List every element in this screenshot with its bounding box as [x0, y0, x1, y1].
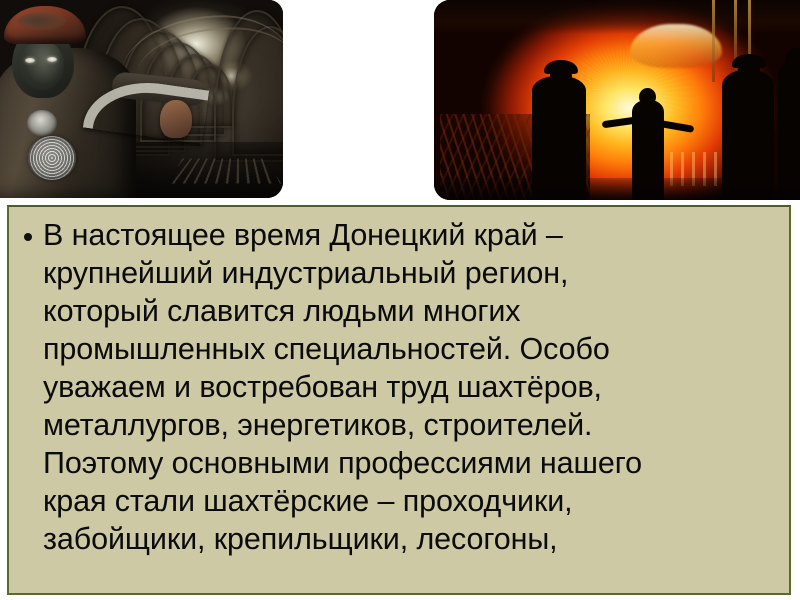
- crane-cable-1: [712, 0, 715, 82]
- bullet-item: В настоящее время Донецкий край – крупне…: [17, 216, 781, 558]
- worker-1-hardhat: [544, 60, 578, 74]
- bullet-line: Поэтому основными профессиями нашего: [43, 444, 781, 482]
- worker-3-hardhat: [732, 54, 766, 68]
- bullet-line: уважаем и востребован труд шахтёров,: [43, 368, 781, 406]
- miner-eye-left: [25, 58, 35, 63]
- miner-helmet-smudge: [18, 12, 66, 30]
- content-text-box: В настоящее время Донецкий край – крупне…: [7, 205, 791, 595]
- miner-eye-right: [47, 57, 57, 62]
- presentation-slide: В настоящее время Донецкий край – крупне…: [0, 0, 800, 600]
- bullet-line: крупнейший индустриальный регион,: [43, 254, 781, 292]
- bullet-line: края стали шахтёрские – проходчики,: [43, 482, 781, 520]
- pouring-ladle: [630, 24, 722, 68]
- worker-2-head: [639, 88, 656, 106]
- mine-rail-track: [167, 159, 282, 184]
- bullet-line: В настоящее время Донецкий край –: [43, 216, 781, 254]
- bullet-list: В настоящее время Донецкий край – крупне…: [9, 207, 789, 558]
- miner-lamp: [27, 110, 57, 136]
- bullet-line: металлургов, энергетиков, строителей.: [43, 406, 781, 444]
- mill-floor: [434, 178, 800, 200]
- bullet-line: который славится людьми многих: [43, 292, 781, 330]
- miner-hand: [160, 100, 192, 138]
- bullet-line: промышленных специальностей. Особо: [43, 330, 781, 368]
- bullet-line: забойщики, крепильщики, лесогоны,: [43, 520, 781, 558]
- steel-mill-scene: [434, 0, 800, 200]
- coal-miner-photo: [0, 0, 283, 198]
- miner-respirator: [28, 136, 76, 180]
- steel-mill-photo: [434, 0, 800, 200]
- coal-miner-scene: [0, 0, 283, 198]
- crane-cable-2: [734, 0, 737, 80]
- miner-face: [20, 40, 64, 90]
